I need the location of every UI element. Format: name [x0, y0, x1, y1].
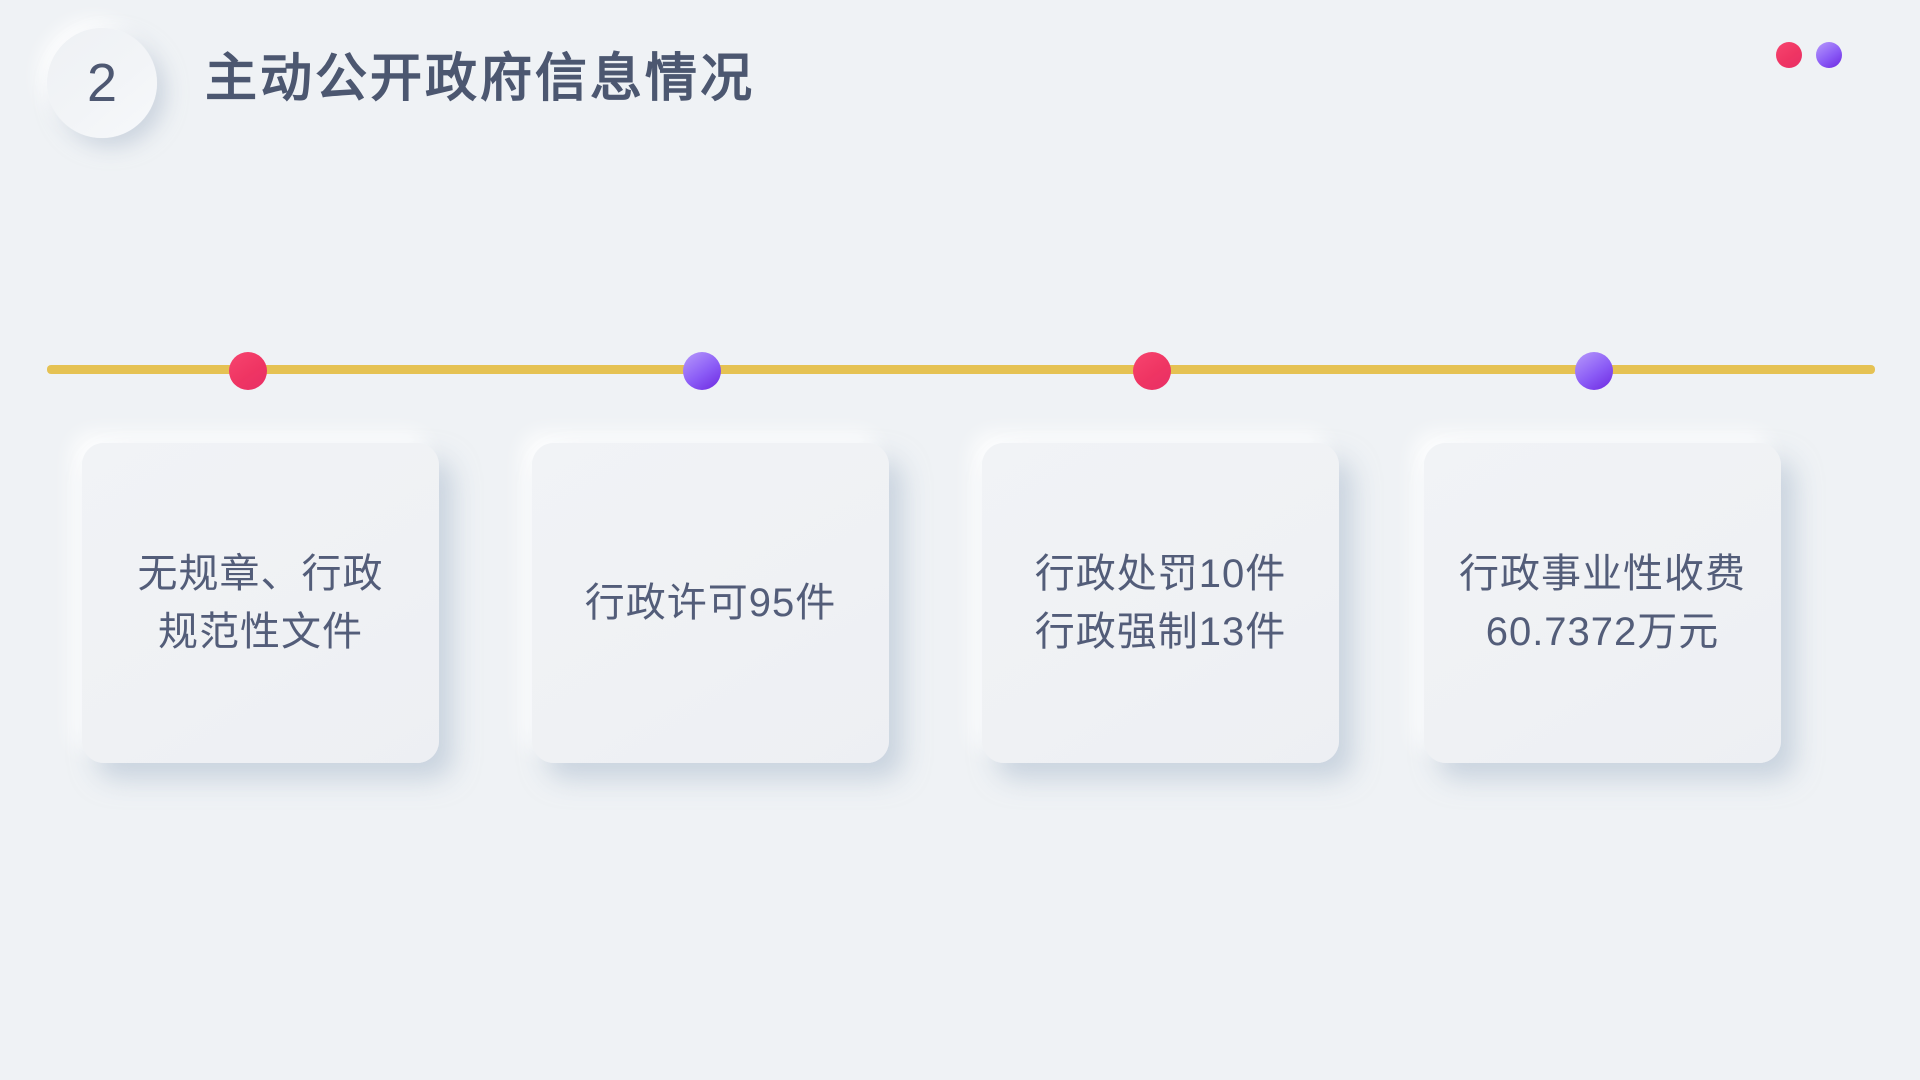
card-penalty-enforcement-text: 行政处罚10件 行政强制13件 — [1017, 545, 1305, 661]
card-fees-text: 行政事业性收费 60.7372万元 — [1441, 545, 1764, 661]
card-regulations[interactable]: 无规章、行政 规范性文件 — [82, 443, 439, 763]
card-penalty-enforcement[interactable]: 行政处罚10件 行政强制13件 — [982, 443, 1339, 763]
card-administrative-license-text: 行政许可95件 — [567, 574, 855, 632]
card-regulations-text: 无规章、行政 规范性文件 — [120, 545, 402, 661]
card-fees[interactable]: 行政事业性收费 60.7372万元 — [1424, 443, 1781, 763]
card-administrative-license[interactable]: 行政许可95件 — [532, 443, 889, 763]
info-card-list: 无规章、行政 规范性文件 行政许可95件 行政处罚10件 行政强制13件 行政事… — [0, 0, 1920, 1080]
